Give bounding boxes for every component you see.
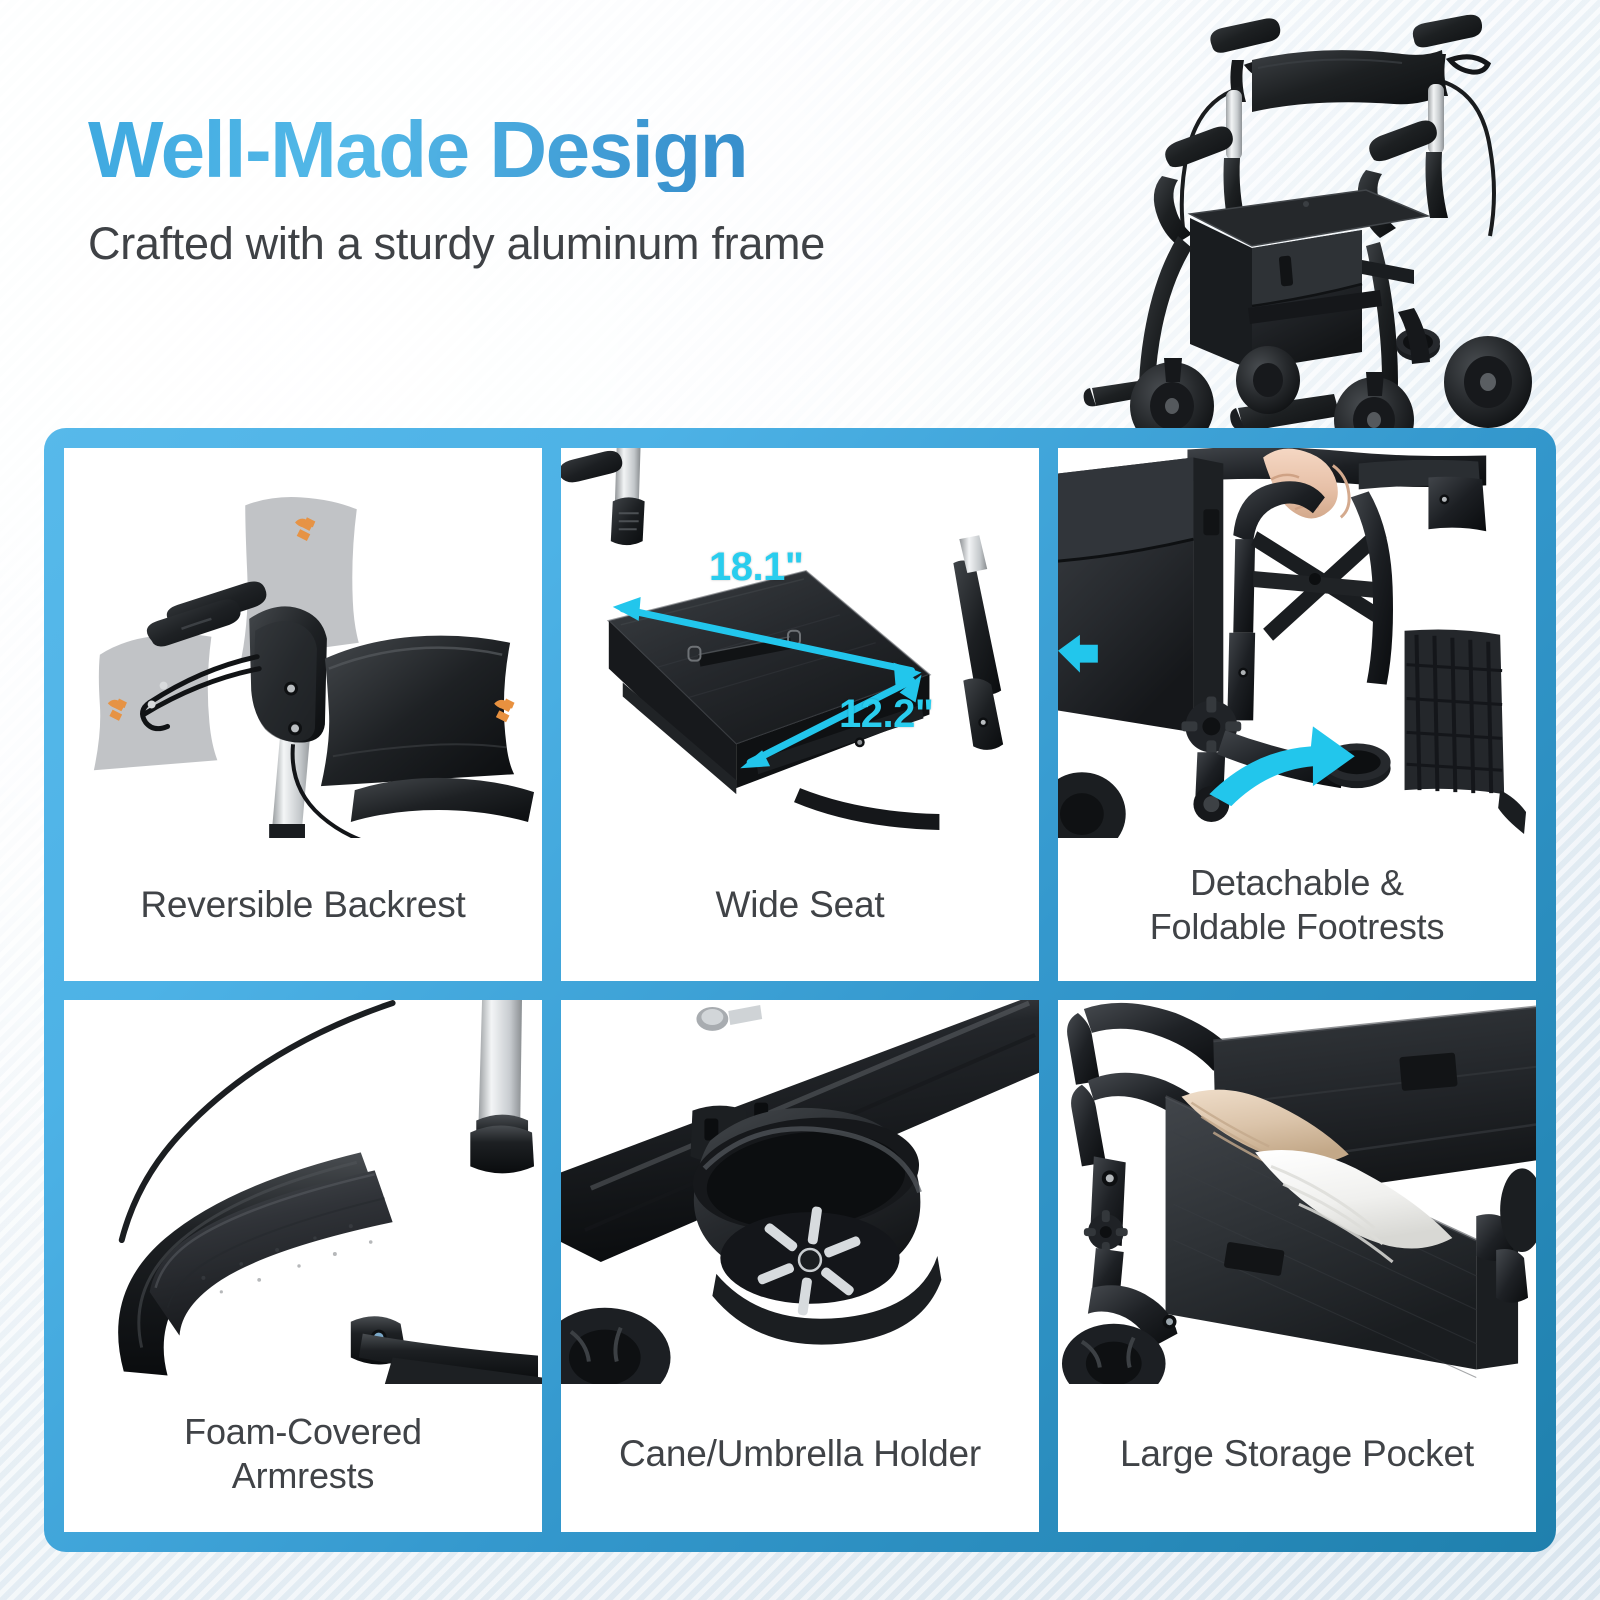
page-title: Well-Made Design xyxy=(88,108,1048,192)
caption-reversible-backrest: Reversible Backrest xyxy=(64,838,542,981)
rollator-illustration xyxy=(1062,8,1600,460)
caption-line-1: Foam-Covered xyxy=(184,1411,422,1452)
caption-large-storage-pocket: Large Storage Pocket xyxy=(1058,1384,1536,1532)
footrest-fold-illustration xyxy=(1058,448,1536,838)
caption-line-2: Foldable Footrests xyxy=(1150,906,1445,947)
feature-cell-large-storage-pocket[interactable]: Large Storage Pocket xyxy=(1058,1000,1536,1533)
feature-cell-foam-covered-armrests[interactable]: Foam-Covered Armrests xyxy=(64,1000,542,1533)
feature-cell-detachable-foldable-footrests[interactable]: Detachable & Foldable Footrests xyxy=(1058,448,1536,981)
hero-product-image xyxy=(1062,8,1600,460)
photo-wide-seat: 18.1" 12.2" xyxy=(561,448,1039,838)
photo-cane-umbrella-holder xyxy=(561,1000,1039,1385)
feature-cell-cane-umbrella-holder[interactable]: Cane/Umbrella Holder xyxy=(561,1000,1039,1533)
feature-cell-wide-seat[interactable]: 18.1" 12.2" Wide Seat xyxy=(561,448,1039,981)
wide-seat-illustration xyxy=(561,448,1039,838)
photo-large-storage-pocket xyxy=(1058,1000,1536,1385)
caption-line-2: Armrests xyxy=(232,1455,374,1496)
caption-cane-umbrella-holder: Cane/Umbrella Holder xyxy=(561,1384,1039,1532)
photo-foam-covered-armrests xyxy=(64,1000,542,1385)
caption-wide-seat: Wide Seat xyxy=(561,838,1039,981)
page-subtitle: Crafted with a sturdy aluminum frame xyxy=(88,218,1048,270)
infographic-page: Well-Made Design Crafted with a sturdy a… xyxy=(0,0,1600,1600)
caption-line-1: Detachable & xyxy=(1190,862,1404,903)
caption-foam-covered-armrests: Foam-Covered Armrests xyxy=(64,1384,542,1532)
foam-armrest-illustration xyxy=(64,1000,542,1385)
storage-pocket-illustration xyxy=(1058,1000,1536,1385)
photo-reversible-backrest xyxy=(64,448,542,838)
photo-detachable-foldable-footrests xyxy=(1058,448,1536,838)
reversible-backrest-illustration xyxy=(64,448,542,838)
caption-detachable-foldable-footrests: Detachable & Foldable Footrests xyxy=(1058,838,1536,981)
feature-grid: Reversible Backrest xyxy=(44,428,1556,1552)
feature-cell-reversible-backrest[interactable]: Reversible Backrest xyxy=(64,448,542,981)
header-block: Well-Made Design Crafted with a sturdy a… xyxy=(88,108,1048,270)
cup-holder-illustration xyxy=(561,1000,1039,1385)
